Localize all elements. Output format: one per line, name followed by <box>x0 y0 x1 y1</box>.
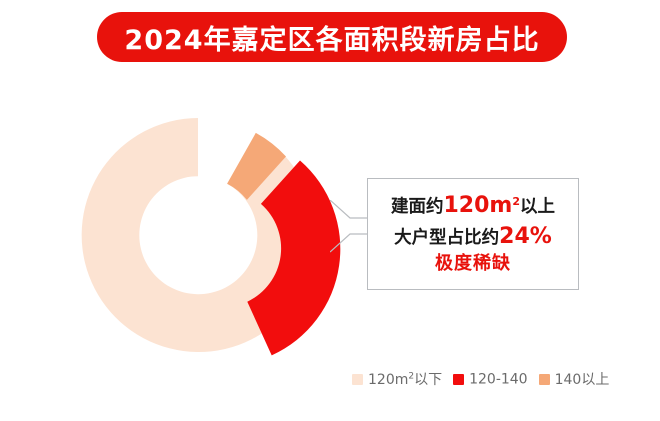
callout-line-2: 大户型占比约24% <box>394 222 552 252</box>
legend-swatch-icon <box>453 374 464 385</box>
legend-label: 120-140 <box>469 371 528 388</box>
donut-chart <box>60 100 360 370</box>
callout-box: 建面约120m2以上 大户型占比约24% 极度稀缺 <box>367 178 579 290</box>
legend-swatch-icon <box>539 374 550 385</box>
callout-line1-suffix: 以上 <box>520 197 555 217</box>
chart-legend: 120m2以下 120-140 140以上 <box>352 369 609 389</box>
callout-line2-emphasis: 24% <box>499 224 552 249</box>
callout-line2-prefix: 大户型占比约 <box>394 228 499 248</box>
legend-label: 140以上 <box>555 369 610 389</box>
legend-item-over-140[interactable]: 140以上 <box>539 369 610 389</box>
legend-item-under-120[interactable]: 120m2以下 <box>352 369 442 389</box>
callout-line1-prefix: 建面约 <box>391 197 444 217</box>
callout-line1-emphasis: 120m <box>443 193 512 218</box>
legend-label: 120m2以下 <box>368 369 442 389</box>
donut-svg <box>60 100 360 370</box>
legend-item-120-140[interactable]: 120-140 <box>453 371 528 388</box>
title-banner: 2024年嘉定区各面积段新房占比 <box>97 12 567 62</box>
callout-line1-superscript: 2 <box>512 195 520 208</box>
chart-canvas: 2024年嘉定区各面积段新房占比 建面约120m2以上 大户型占比约24% 极度… <box>0 0 660 421</box>
callout-line-1: 建面约120m2以上 <box>391 191 555 221</box>
legend-swatch-icon <box>352 374 363 385</box>
page-title: 2024年嘉定区各面积段新房占比 <box>124 18 539 57</box>
callout-line-3: 极度稀缺 <box>435 252 511 277</box>
